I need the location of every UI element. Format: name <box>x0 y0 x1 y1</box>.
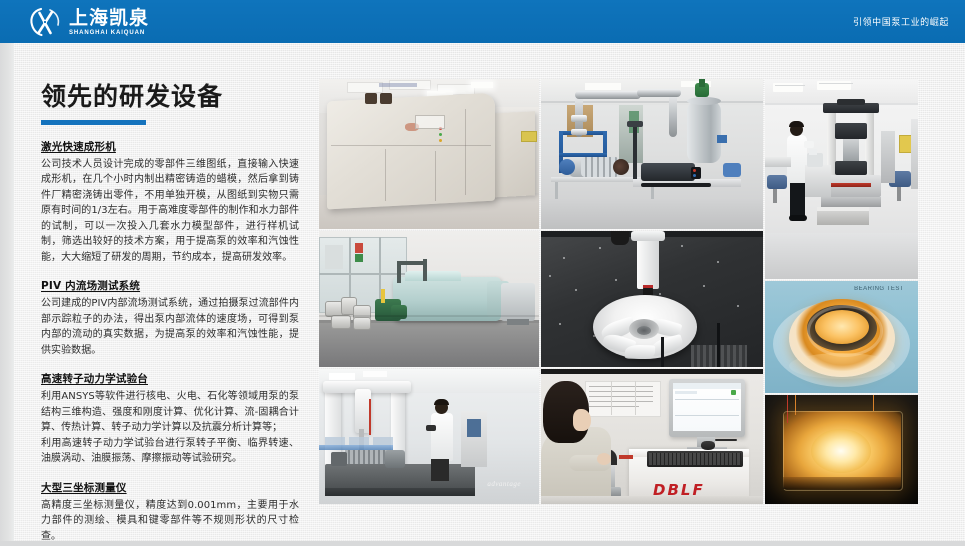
photo-universal-testing-machine[interactable] <box>765 79 918 279</box>
title-underline-rule <box>41 120 146 125</box>
section-cmm: 大型三坐标测量仪 高精度三坐标测量仪，精度达到0.001mm，主要用于水力部件的… <box>41 480 299 545</box>
header-slogan: 引领中国泵工业的崛起 <box>853 0 949 43</box>
section-body: 公司技术人员设计完成的零部件三维图纸，直接输入快速成形机，在几个小时内制出精密铸… <box>41 157 299 266</box>
cmm-brand-text: advantage <box>487 480 521 488</box>
text-column: 领先的研发设备 激光快速成形机 公司技术人员设计完成的零部件三维图纸，直接输入快… <box>41 83 299 557</box>
photo-laser-rapid-prototyping-machine[interactable] <box>319 79 539 229</box>
site-header: 上海凯泉 SHANGHAI KAIQUAN 引领中国泵工业的崛起 <box>0 0 965 43</box>
slide-body: 领先的研发设备 激光快速成形机 公司技术人员设计完成的零部件三维图纸，直接输入快… <box>0 43 965 546</box>
section-heading: 大型三坐标测量仪 <box>41 480 299 495</box>
gallery-column-middle: DBLF <box>541 79 763 504</box>
section-body: 利用ANSYS等软件进行核电、火电、石化等领域用泵的泵结构三维构造、强度和刚度计… <box>41 389 299 467</box>
page-title: 领先的研发设备 <box>41 83 299 111</box>
photo-rotor-dynamics-test-bench[interactable] <box>319 231 539 367</box>
photo-piv-flow-field-test-rig[interactable] <box>541 79 763 229</box>
photo-cmm-impeller-measurement[interactable] <box>541 231 763 367</box>
section-paragraph: 利用高速转子动力学试验台进行泵转子平衡、临界转速、油膜涡动、油膜振荡、摩擦振动等… <box>41 436 299 467</box>
brand-text: 上海凯泉 SHANGHAI KAIQUAN <box>69 9 149 36</box>
section-laser: 激光快速成形机 公司技术人员设计完成的零部件三维图纸，直接输入快速成形机，在几个… <box>41 139 299 266</box>
kaiquan-pump-logo-icon <box>28 6 62 38</box>
section-paragraph: 利用ANSYS等软件进行核电、火电、石化等领域用泵的泵结构三维构造、强度和刚度计… <box>41 389 299 436</box>
section-heading: 激光快速成形机 <box>41 139 299 154</box>
photo-cmm-operator[interactable]: advantage <box>319 369 539 504</box>
photo-hardness-tester-workstation[interactable]: DBLF <box>541 369 763 504</box>
oil-film-plate-label: BEARING TEST <box>854 286 904 292</box>
photo-oil-film-bearing-test[interactable]: BEARING TEST <box>765 281 918 393</box>
section-heading: 高速转子动力学试验台 <box>41 371 299 386</box>
section-heading: PIV 内流场测试系统 <box>41 278 299 293</box>
brand-logo[interactable]: 上海凯泉 SHANGHAI KAIQUAN <box>28 6 149 38</box>
section-rotor-dynamics: 高速转子动力学试验台 利用ANSYS等软件进行核电、火电、石化等领域用泵的泵结构… <box>41 371 299 467</box>
section-body: 公司建成的PIV内部流场测试系统，通过拍摄泵过流部件内部示踪粒子的办法，得出泵内… <box>41 296 299 358</box>
left-edge-rail <box>0 43 14 546</box>
slide-page: 上海凯泉 SHANGHAI KAIQUAN 引领中国泵工业的崛起 领先的研发设备… <box>0 0 965 546</box>
gallery-column-left: advantage <box>319 79 539 504</box>
brand-name-cn: 上海凯泉 <box>69 9 149 28</box>
photo-glowing-bearing-chamber[interactable] <box>765 395 918 504</box>
section-body: 高精度三坐标测量仪，精度达到0.001mm，主要用于水力部件的测绘、模具和键零部… <box>41 498 299 545</box>
photo-gallery: advantage <box>319 79 918 504</box>
gallery-column-right: BEARING TEST <box>765 79 918 504</box>
brand-name-en: SHANGHAI KAIQUAN <box>69 30 149 36</box>
section-piv: PIV 内流场测试系统 公司建成的PIV内部流场测试系统，通过拍摄泵过流部件内部… <box>41 278 299 358</box>
